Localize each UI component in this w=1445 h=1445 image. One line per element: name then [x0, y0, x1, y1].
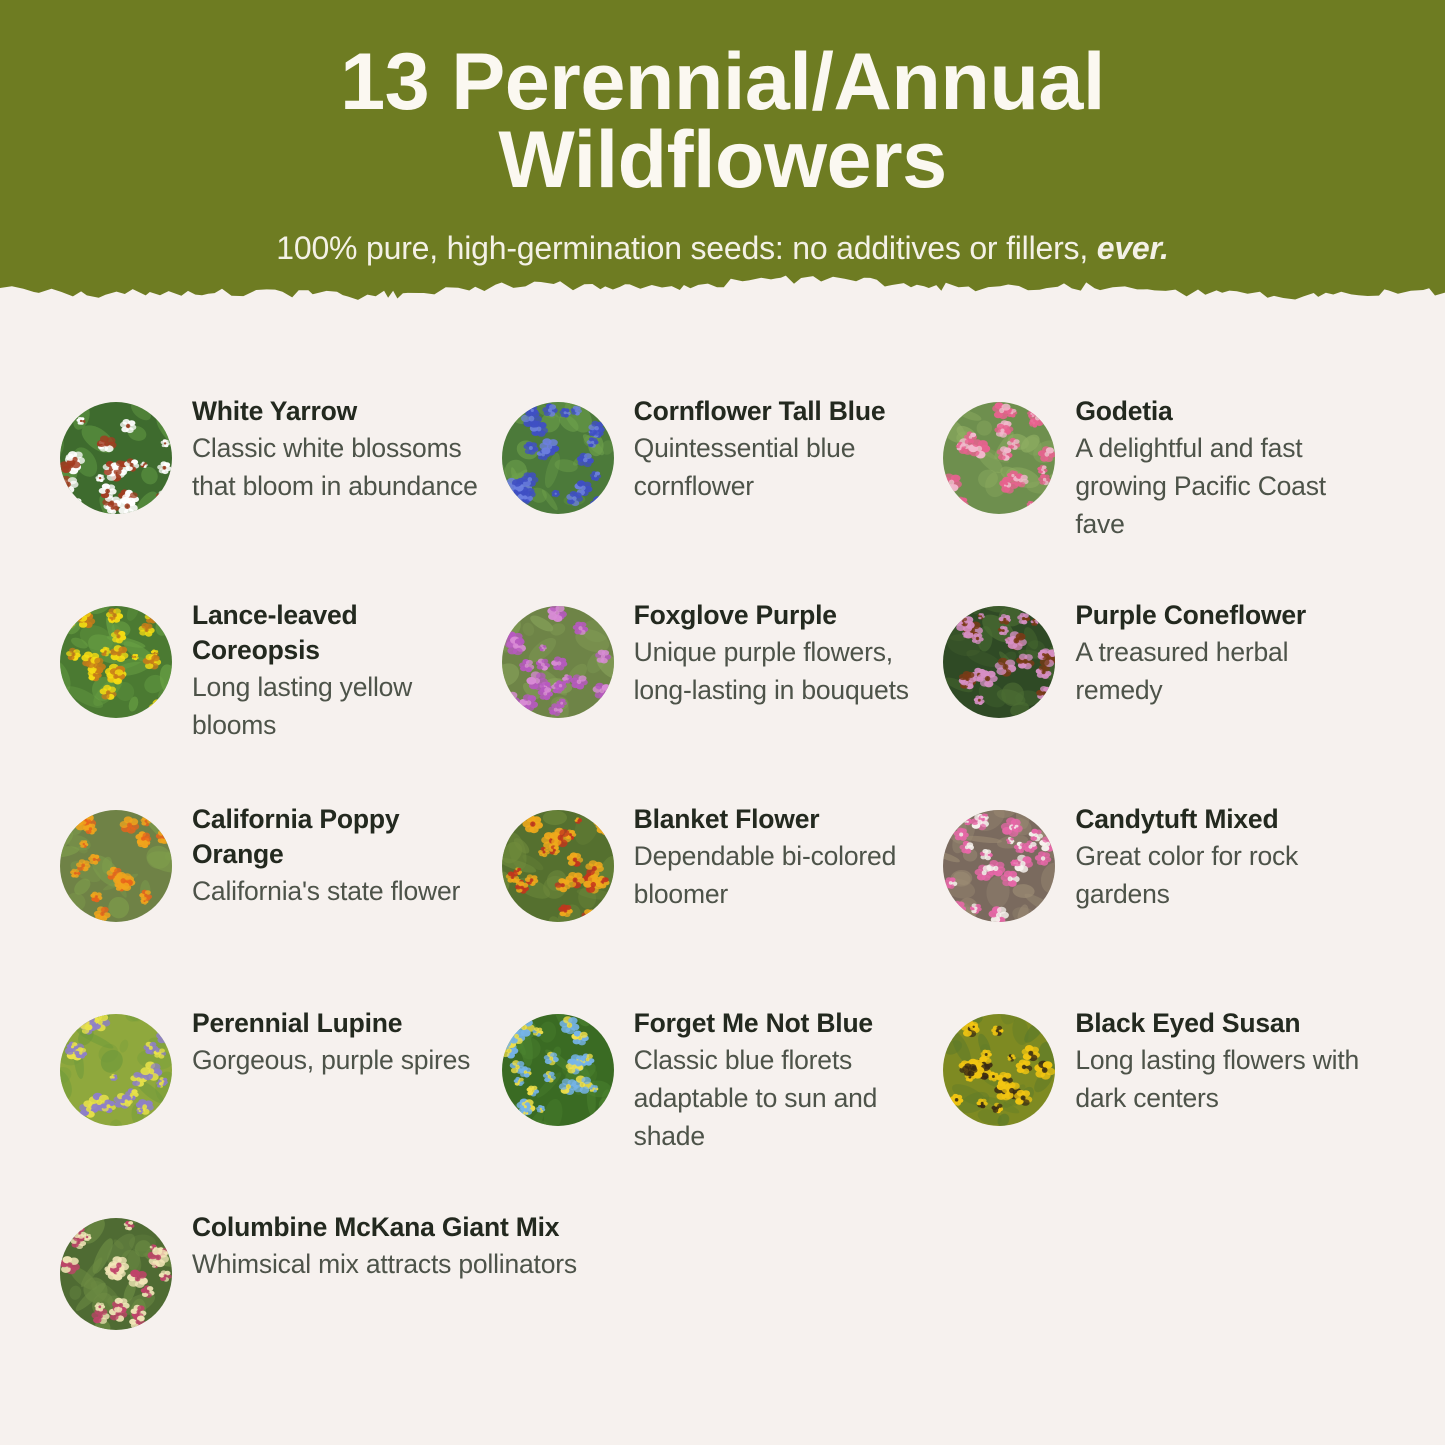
- purple-coneflower-thumbnail: [943, 606, 1055, 718]
- flower-description: Long lasting yellow blooms: [192, 669, 492, 745]
- list-item: Purple Coneflower A treasured herbal rem…: [943, 592, 1385, 796]
- flower-name: Candytuft Mixed: [1075, 802, 1375, 837]
- flower-description: Unique purple flowers, long-lasting in b…: [634, 634, 934, 710]
- page-title-line-2: Wildflowers: [498, 115, 946, 205]
- list-item: Perennial Lupine Gorgeous, purple spires: [60, 1000, 502, 1204]
- flower-list-grid: White Yarrow Classic white blossoms that…: [0, 330, 1445, 1408]
- forget-me-not-blue-thumbnail: [502, 1014, 614, 1126]
- flower-description: Classic blue florets adaptable to sun an…: [634, 1042, 934, 1156]
- flower-description: Long lasting flowers with dark centers: [1075, 1042, 1375, 1118]
- list-item: Godetia A delightful and fast growing Pa…: [943, 388, 1385, 592]
- list-item: Black Eyed Susan Long lasting flowers wi…: [943, 1000, 1385, 1204]
- list-item: Blanket Flower Dependable bi-colored blo…: [502, 796, 944, 1000]
- list-item: White Yarrow Classic white blossoms that…: [60, 388, 502, 592]
- flower-description: Whimsical mix attracts pollinators: [192, 1246, 577, 1284]
- flower-description: A delightful and fast growing Pacific Co…: [1075, 430, 1375, 544]
- flower-name: Blanket Flower: [634, 802, 934, 837]
- flower-description: Gorgeous, purple spires: [192, 1042, 470, 1080]
- list-item: Forget Me Not Blue Classic blue florets …: [502, 1000, 944, 1204]
- flower-name: Forget Me Not Blue: [634, 1006, 934, 1041]
- flower-row-2: Lance-leaved Coreopsis Long lasting yell…: [60, 592, 1385, 796]
- white-yarrow-thumbnail: [60, 402, 172, 514]
- flower-description: California's state flower: [192, 873, 492, 911]
- foxglove-purple-thumbnail: [502, 606, 614, 718]
- flower-description: A treasured herbal remedy: [1075, 634, 1375, 710]
- flower-row-3: California Poppy Orange California's sta…: [60, 796, 1385, 1000]
- godetia-thumbnail: [943, 402, 1055, 514]
- blanket-flower-thumbnail: [502, 810, 614, 922]
- list-item: Foxglove Purple Unique purple flowers, l…: [502, 592, 944, 796]
- page-title-line-1: 13 Perennial/Annual: [340, 37, 1105, 127]
- columbine-mckana-giant-mix-thumbnail: [60, 1218, 172, 1330]
- flower-name: Lance-leaved Coreopsis: [192, 598, 492, 668]
- header-banner: 13 Perennial/Annual Wildflowers 100% pur…: [0, 0, 1445, 312]
- california-poppy-orange-thumbnail: [60, 810, 172, 922]
- page-subtitle: 100% pure, high-germination seeds: no ad…: [0, 230, 1445, 267]
- flower-name: Godetia: [1075, 394, 1375, 429]
- cornflower-tall-blue-thumbnail: [502, 402, 614, 514]
- page-subtitle-emphasis: ever.: [1097, 230, 1169, 266]
- lance-leaved-coreopsis-thumbnail: [60, 606, 172, 718]
- list-item: Columbine McKana Giant Mix Whimsical mix…: [60, 1204, 943, 1408]
- flower-row-5: Columbine McKana Giant Mix Whimsical mix…: [60, 1204, 1385, 1408]
- candytuft-mixed-thumbnail: [943, 810, 1055, 922]
- flower-row-1: White Yarrow Classic white blossoms that…: [60, 388, 1385, 592]
- flower-name: California Poppy Orange: [192, 802, 492, 872]
- flower-name: Foxglove Purple: [634, 598, 934, 633]
- flower-name: Perennial Lupine: [192, 1006, 470, 1041]
- flower-name: Black Eyed Susan: [1075, 1006, 1375, 1041]
- list-item: Candytuft Mixed Great color for rock gar…: [943, 796, 1385, 1000]
- flower-description: Classic white blossoms that bloom in abu…: [192, 430, 492, 506]
- flower-name: Cornflower Tall Blue: [634, 394, 934, 429]
- perennial-lupine-thumbnail: [60, 1014, 172, 1126]
- flower-name: Purple Coneflower: [1075, 598, 1375, 633]
- list-item: Cornflower Tall Blue Quintessential blue…: [502, 388, 944, 592]
- flower-description: Dependable bi-colored bloomer: [634, 838, 934, 914]
- flower-description: Quintessential blue cornflower: [634, 430, 934, 506]
- torn-paper-edge-divider: [0, 266, 1445, 312]
- page-title: 13 Perennial/Annual Wildflowers: [0, 44, 1445, 200]
- page-subtitle-text: 100% pure, high-germination seeds: no ad…: [276, 230, 1096, 266]
- flower-name: White Yarrow: [192, 394, 492, 429]
- list-item: California Poppy Orange California's sta…: [60, 796, 502, 1000]
- black-eyed-susan-thumbnail: [943, 1014, 1055, 1126]
- list-item: Lance-leaved Coreopsis Long lasting yell…: [60, 592, 502, 796]
- flower-description: Great color for rock gardens: [1075, 838, 1375, 914]
- flower-row-4: Perennial Lupine Gorgeous, purple spires…: [60, 1000, 1385, 1204]
- flower-name: Columbine McKana Giant Mix: [192, 1210, 577, 1245]
